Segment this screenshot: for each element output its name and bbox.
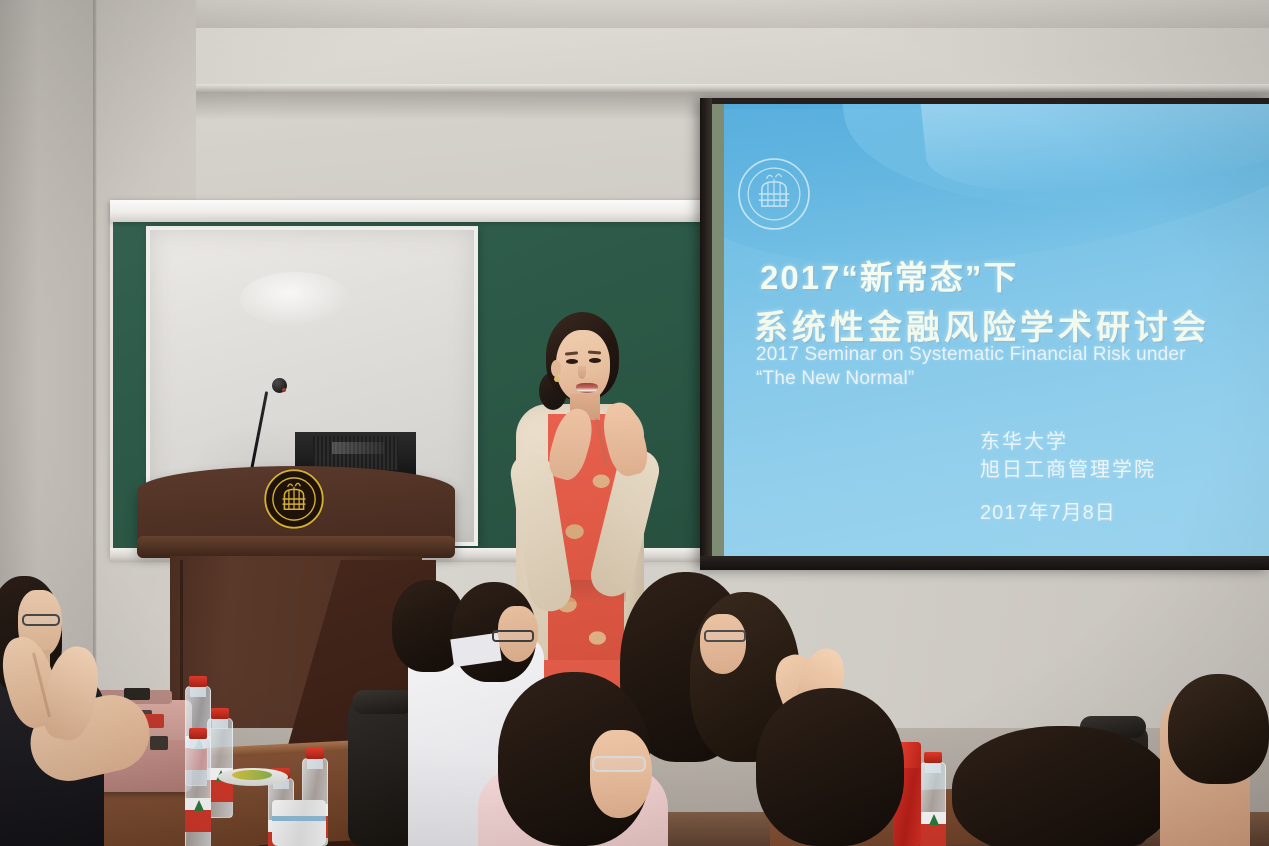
conference-chair: [348, 700, 416, 846]
bottle-logo-icon: [929, 814, 939, 825]
screen-edge-strip: [712, 104, 724, 562]
podium-lip: [137, 536, 455, 558]
bottle-cap: [189, 676, 207, 687]
ceiling-beam: [196, 0, 1269, 28]
speaker-ear: [551, 360, 561, 377]
speaker-nose: [578, 366, 586, 379]
slide-organizer-university: 东华大学: [980, 425, 1068, 454]
screen-bottom-bar: [700, 556, 1269, 570]
monitor-label: [332, 442, 384, 454]
audience-member-glasses: [492, 630, 534, 642]
soffit-lip: [196, 84, 1269, 93]
slide-title-cn-line2: 系统性金融风险学术研讨会: [754, 300, 1210, 349]
slide-text-block: 2017“新常态”下 系统性金融风险学术研讨会 2017 Seminar on …: [724, 104, 1269, 556]
audience-member-glasses: [592, 756, 646, 772]
slide-date: 2017年7月8日: [980, 496, 1116, 525]
photo-scene: 2017“新常态”下 系统性金融风险学术研讨会 2017 Seminar on …: [0, 0, 1269, 846]
paper-cup: [272, 800, 326, 846]
microphone-indicator: [282, 388, 286, 392]
bottle-cap: [924, 752, 942, 763]
handbag-ornament-4: [150, 736, 168, 750]
podium-emblem-icon: [262, 467, 326, 531]
speaker-eye-right: [589, 358, 601, 363]
bottle-cap: [211, 708, 229, 719]
snack-plate-left-food: [232, 770, 272, 780]
audience-member-head: [952, 726, 1172, 846]
slide-title-en-line1: 2017 Seminar on Systematic Financial Ris…: [756, 344, 1186, 366]
audience-member-face: [700, 614, 746, 674]
chair-armrest: [352, 690, 414, 714]
speaker-eye-left: [566, 359, 578, 364]
slide-title-cn-line1: 2017“新常态”下: [760, 251, 1018, 299]
bottle-cap: [189, 728, 207, 739]
audience-member-glasses: [22, 614, 60, 626]
speaker-earring: [554, 376, 560, 382]
speaker-mouth: [576, 383, 598, 393]
paper-cup-band: [272, 816, 326, 821]
bottle-logo-icon: [194, 800, 204, 811]
slide-title-en-line2: “The New Normal”: [756, 368, 914, 390]
screen-left-bezel: [700, 98, 712, 568]
audience-member-head: [756, 688, 904, 846]
bottle-cap: [306, 748, 324, 759]
audience-member-head: [1168, 674, 1269, 784]
presentation-slide: 2017“新常态”下 系统性金融风险学术研讨会 2017 Seminar on …: [724, 104, 1269, 556]
slide-organizer-school: 旭日工商管理学院: [980, 453, 1156, 482]
whiteboard-glare: [240, 272, 350, 326]
audience-member-glasses: [704, 630, 746, 642]
